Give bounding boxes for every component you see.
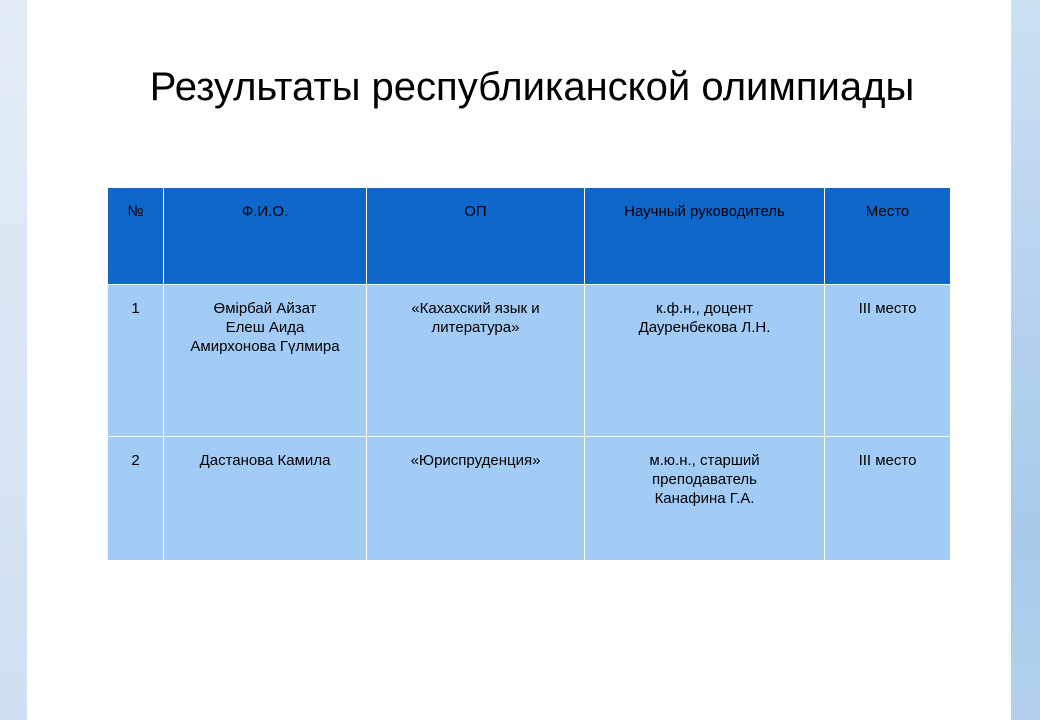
cell-supervisor: к.ф.н., доцент Дауренбекова Л.Н. [585,285,825,437]
cell-fullname: Дастанова Камила [164,437,367,561]
column-header-number: № [108,188,164,285]
table-header: № Ф.И.О. ОП Научный руководитель Место [108,188,951,285]
cell-place: III место [825,285,951,437]
cell-number: 1 [108,285,164,437]
cell-supervisor-line: Канафина Г.А. [591,489,818,508]
decorative-left-band [0,0,27,720]
cell-number: 2 [108,437,164,561]
table-header-row: № Ф.И.О. ОП Научный руководитель Место [108,188,951,285]
results-table: № Ф.И.О. ОП Научный руководитель Место 1… [107,187,951,561]
cell-supervisor-line: Дауренбекова Л.Н. [591,318,818,337]
cell-program-line: литература» [373,318,578,337]
cell-program: «Кахахский язык и литература» [367,285,585,437]
cell-program: «Юриспруденция» [367,437,585,561]
column-header-place: Место [825,188,951,285]
cell-fullname: Өмірбай Айзат Елеш Аида Амирхонова Гүлми… [164,285,367,437]
cell-fullname-line: Өмірбай Айзат [170,299,360,318]
cell-place: III место [825,437,951,561]
cell-supervisor-line: к.ф.н., доцент [591,299,818,318]
cell-fullname-line: Елеш Аида [170,318,360,337]
slide: Результаты республиканской олимпиады № Ф… [0,0,1040,720]
column-header-supervisor: Научный руководитель [585,188,825,285]
cell-supervisor-line: преподаватель [591,470,818,489]
table-row: 1 Өмірбай Айзат Елеш Аида Амирхонова Гүл… [108,285,951,437]
column-header-program: ОП [367,188,585,285]
table-body: 1 Өмірбай Айзат Елеш Аида Амирхонова Гүл… [108,285,951,561]
column-header-fullname: Ф.И.О. [164,188,367,285]
decorative-right-band [1011,0,1040,720]
cell-supervisor-line: м.ю.н., старший [591,451,818,470]
cell-program-line: «Юриспруденция» [373,451,578,470]
page-title: Результаты республиканской олимпиады [107,64,957,110]
cell-fullname-line: Амирхонова Гүлмира [170,337,360,356]
cell-supervisor: м.ю.н., старший преподаватель Канафина Г… [585,437,825,561]
table-row: 2 Дастанова Камила «Юриспруденция» м.ю.н… [108,437,951,561]
cell-program-line: «Кахахский язык и [373,299,578,318]
cell-fullname-line: Дастанова Камила [170,451,360,470]
